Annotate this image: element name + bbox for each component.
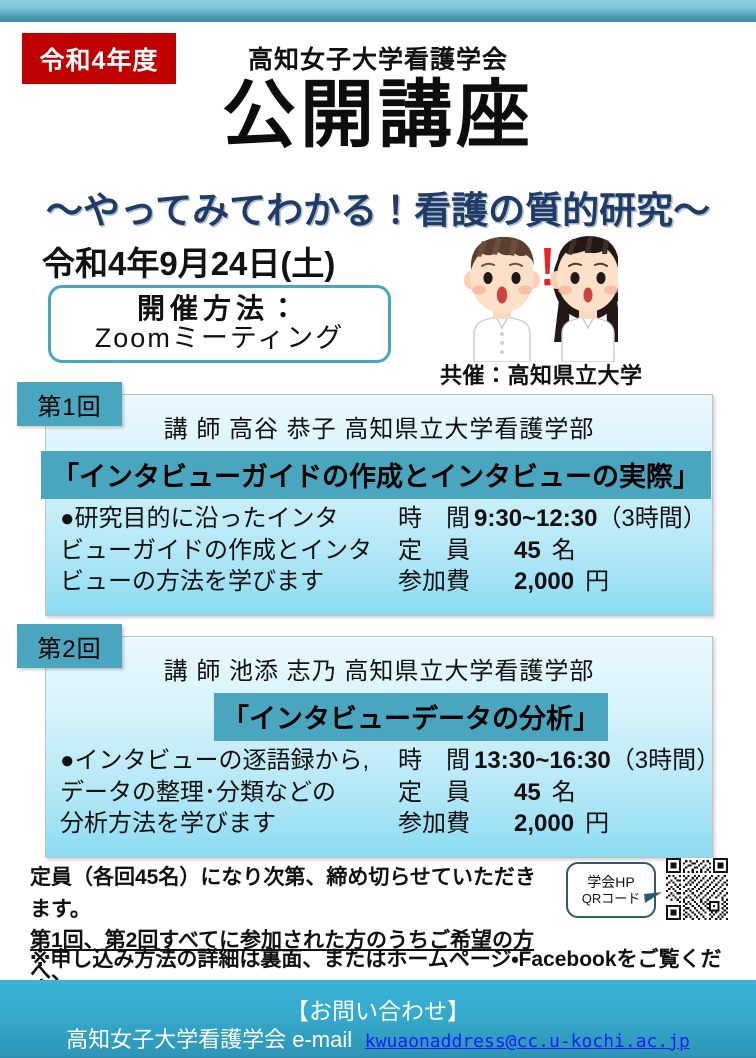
session-2-time-unit: （3時間） bbox=[611, 745, 712, 777]
event-date: 令和4年9月24日(土) bbox=[42, 237, 335, 285]
session-1-title: 「インタビューガイドの作成とインタビューの実際」 bbox=[41, 451, 711, 499]
two-surprised-people-illustration bbox=[438, 222, 618, 362]
session-2-lecturer: 講 師 池添 志乃 高知県立大学看護学部 bbox=[46, 651, 712, 686]
contact-heading: 【お問い合わせ】 bbox=[0, 992, 756, 1026]
session-2-capacity-value: 45 bbox=[514, 777, 541, 809]
organization-name: 高知女子大学看護学会 bbox=[0, 40, 756, 76]
session-1-lecturer: 講 師 高谷 恭子 高知県立大学看護学部 bbox=[46, 409, 712, 444]
qr-bubble-line-2: QRコード bbox=[582, 891, 641, 907]
session-1-time-unit: （3時間） bbox=[597, 503, 706, 535]
session-2-desc-line-3: 分析方法を学びます bbox=[60, 808, 390, 840]
session-card-2: 講 師 池添 志乃 高知県立大学看護学部 「インタビューデータの分析」 ●インタ… bbox=[45, 636, 713, 858]
session-1-fee-unit: 円 bbox=[585, 566, 609, 598]
session-1-description: ●研究目的に沿ったインタ ビューガイドの作成とインタ ビューの方法を学びます bbox=[60, 503, 390, 598]
session-1-capacity-value: 45 bbox=[514, 535, 541, 567]
session-2-fact-capacity: 定 員 45 名 bbox=[398, 777, 712, 809]
session-1-time-label: 時 間 bbox=[398, 503, 474, 535]
session-1-body: ●研究目的に沿ったインタ ビューガイドの作成とインタ ビューの方法を学びます 時… bbox=[46, 503, 712, 613]
session-1-desc-line-3: ビューの方法を学びます bbox=[60, 566, 390, 598]
contact-line: 高知女子大学看護学会 e-mail kwuaonaddress@cc.u-koc… bbox=[0, 1022, 756, 1054]
session-2-desc-line-2: データの整理･分類などの bbox=[60, 777, 390, 809]
session-2-capacity-unit: 名 bbox=[552, 777, 576, 809]
poster-root: 令和4年度 高知女子大学看護学会 公開講座 〜やってみてわかる！看護の質的研究〜… bbox=[0, 0, 756, 1058]
method-label: 開催方法： bbox=[137, 294, 302, 323]
session-2-fact-time: 時 間 13:30~16:30 （3時間） bbox=[398, 745, 712, 777]
session-1-fact-fee: 参加費 2,000 円 bbox=[398, 566, 712, 598]
session-2-description: ●インタビューの逐語録から, データの整理･分類などの 分析方法を学びます bbox=[60, 745, 390, 840]
method-value: Zoomミーティング bbox=[95, 324, 344, 354]
session-2-time-value: 13:30~16:30 bbox=[474, 745, 611, 777]
session-1-capacity-unit: 名 bbox=[552, 535, 576, 567]
contact-email-link[interactable]: kwuaonaddress@cc.u-kochi.ac.jp bbox=[365, 1031, 690, 1052]
note-line-1: 定員（各回45名）になり次第、締め切らせていただきます。 bbox=[30, 862, 550, 925]
session-2-title: 「インタビューデータの分析」 bbox=[214, 693, 608, 741]
session-1-tab: 第1回 bbox=[17, 382, 122, 426]
session-1-time-value: 9:30~12:30 bbox=[474, 503, 597, 535]
qr-bubble-line-1: 学会HP bbox=[587, 874, 634, 891]
top-gradient-bar bbox=[0, 0, 756, 22]
session-1-fee-label: 参加費 bbox=[398, 566, 474, 598]
session-2-tab: 第2回 bbox=[17, 624, 122, 668]
session-2-fact-fee: 参加費 2,000 円 bbox=[398, 808, 712, 840]
method-box: 開催方法： Zoomミーティング bbox=[48, 285, 391, 363]
page-title: 公開講座 bbox=[0, 78, 756, 152]
session-1-fact-capacity: 定 員 45 名 bbox=[398, 535, 712, 567]
session-1-facts: 時 間 9:30~12:30 （3時間） 定 員 45 名 参加費 2,000 … bbox=[398, 503, 712, 598]
session-2-time-label: 時 間 bbox=[398, 745, 474, 777]
cohost-text: 共催：高知県立大学 bbox=[440, 358, 740, 390]
session-1-fact-time: 時 間 9:30~12:30 （3時間） bbox=[398, 503, 712, 535]
contact-org: 高知女子大学看護学会 e-mail bbox=[66, 1027, 352, 1052]
qr-bubble-tail-icon bbox=[644, 892, 664, 912]
session-1-desc-line-1: ●研究目的に沿ったインタ bbox=[60, 503, 390, 535]
page-subtitle: 〜やってみてわかる！看護の質的研究〜 bbox=[0, 180, 756, 234]
session-1-fee-value: 2,000 bbox=[514, 566, 574, 598]
session-2-fee-label: 参加費 bbox=[398, 808, 474, 840]
session-1-capacity-label: 定 員 bbox=[398, 535, 474, 567]
session-2-desc-line-1: ●インタビューの逐語録から, bbox=[60, 745, 390, 777]
session-2-facts: 時 間 13:30~16:30 （3時間） 定 員 45 名 参加費 2,000… bbox=[398, 745, 712, 840]
session-2-fee-value: 2,000 bbox=[514, 808, 574, 840]
qr-callout-bubble: 学会HP QRコード bbox=[566, 862, 656, 918]
session-2-body: ●インタビューの逐語録から, データの整理･分類などの 分析方法を学びます 時 … bbox=[46, 745, 712, 855]
qr-code-icon[interactable] bbox=[666, 858, 728, 920]
session-1-desc-line-2: ビューガイドの作成とインタ bbox=[60, 535, 390, 567]
session-card-1: 講 師 高谷 恭子 高知県立大学看護学部 「インタビューガイドの作成とインタビュ… bbox=[45, 394, 713, 616]
session-2-fee-unit: 円 bbox=[585, 808, 609, 840]
session-2-capacity-label: 定 員 bbox=[398, 777, 474, 809]
